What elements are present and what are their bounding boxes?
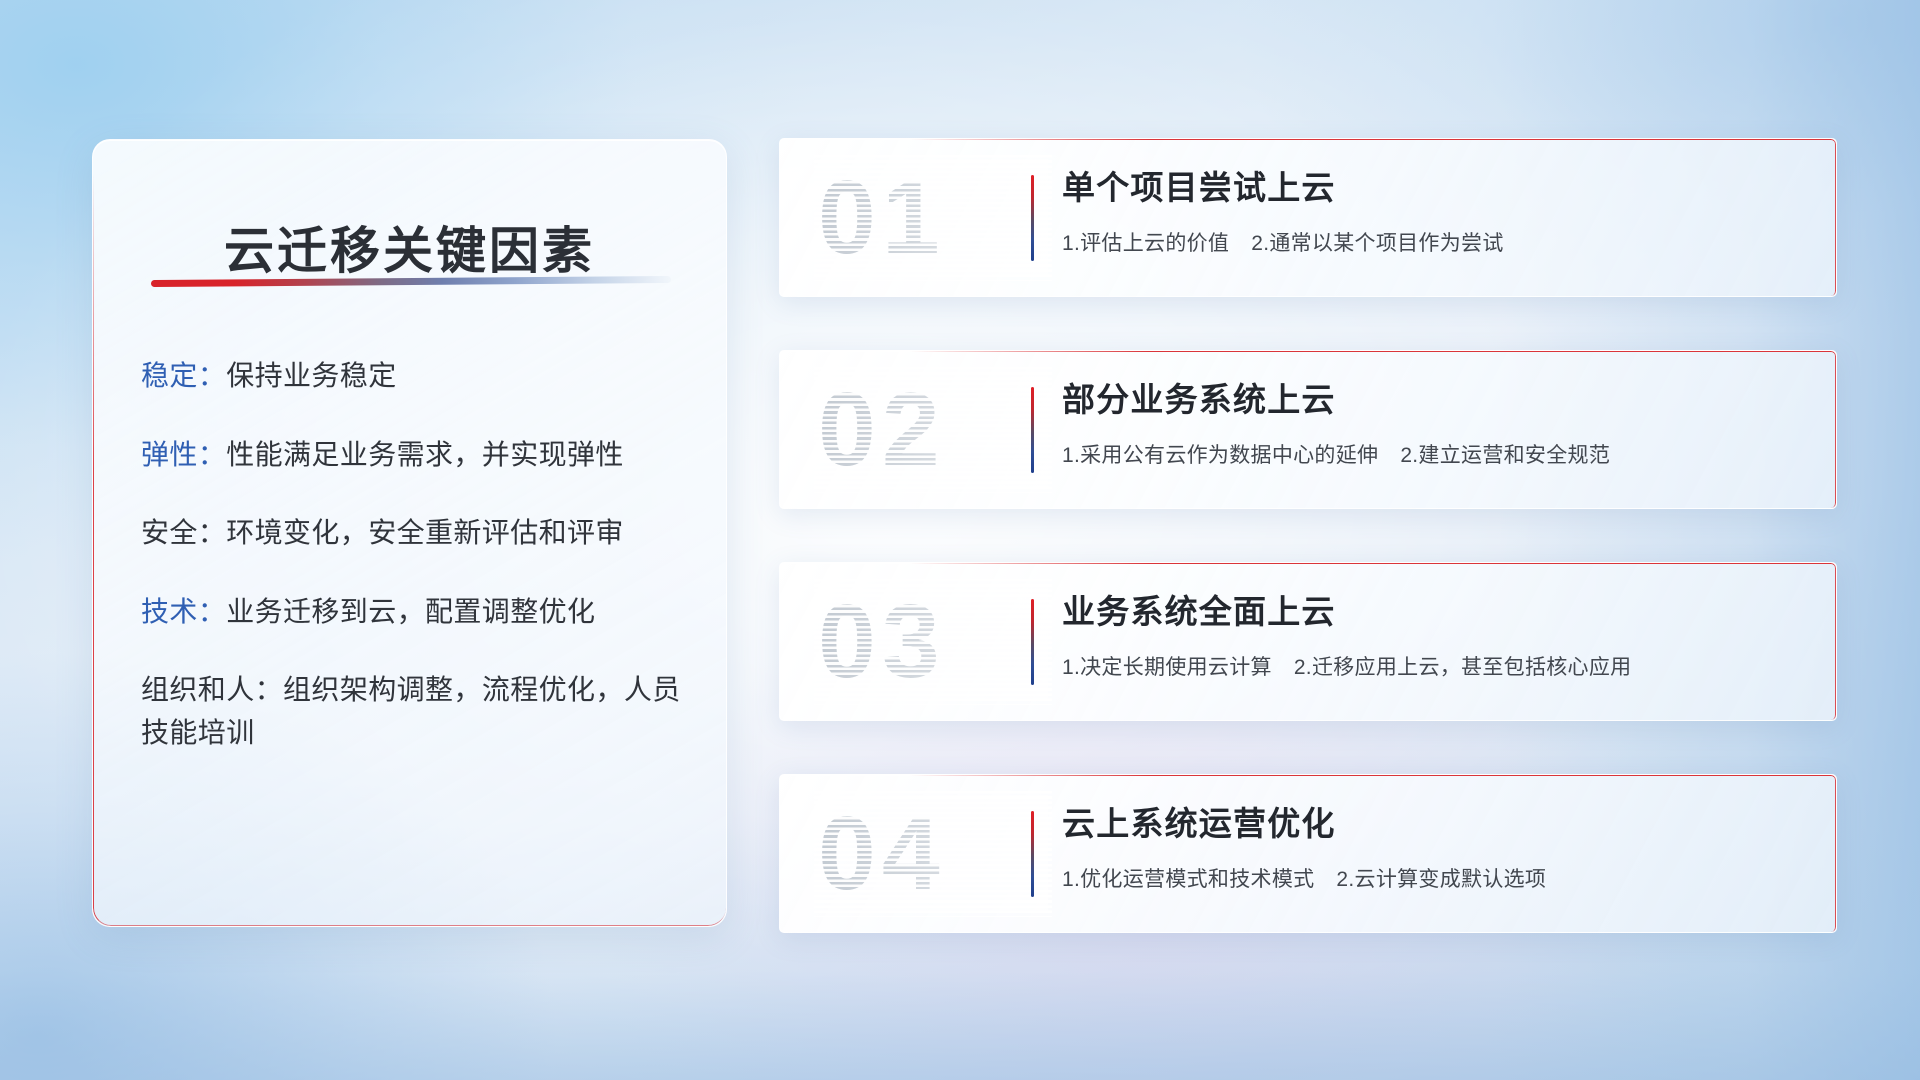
- key-factors-list: 稳定：保持业务稳定弹性：性能满足业务需求，并实现弹性安全：环境变化，安全重新评估…: [141, 355, 692, 790]
- key-factor-value: 性能满足业务需求，并实现弹性: [226, 439, 624, 470]
- card-vertical-accent-bar: [1031, 599, 1034, 685]
- key-factor-label: 组织和人：: [141, 674, 283, 705]
- key-factor-value: 环境变化，安全重新评估和评审: [226, 517, 624, 548]
- key-factor-row: 技术：业务迁移到云，配置调整优化: [141, 591, 692, 634]
- card-index-fade-overlay: [818, 583, 1048, 701]
- card-index-value: 04: [818, 795, 946, 913]
- card-index-value: 02: [818, 371, 946, 489]
- card-point: 2.云计算变成默认选项: [1336, 868, 1546, 891]
- slide-canvas: 云迁移关键因素 稳定：保持业务稳定弹性：性能满足业务需求，并实现弹性安全：环境变…: [0, 0, 1920, 1080]
- key-factors-panel: 云迁移关键因素 稳定：保持业务稳定弹性：性能满足业务需求，并实现弹性安全：环境变…: [92, 139, 727, 927]
- card-index-number: 01: [818, 159, 1048, 277]
- card-body: 部分业务系统上云1.采用公有云作为数据中心的延伸2.建立运营和安全规范: [1062, 380, 1808, 490]
- stage-card[interactable]: 04云上系统运营优化1.优化运营模式和技术模式2.云计算变成默认选项: [779, 774, 1837, 933]
- card-description: 1.采用公有云作为数据中心的延伸2.建立运营和安全规范: [1062, 442, 1808, 469]
- card-index-scanline-overlay: [814, 791, 1052, 917]
- card-index-scanline-overlay: [814, 367, 1052, 493]
- key-factor-label: 安全：: [141, 517, 226, 548]
- card-index-number: 02: [818, 371, 1048, 489]
- card-body: 云上系统运营优化1.优化运营模式和技术模式2.云计算变成默认选项: [1062, 804, 1808, 914]
- key-factor-label: 稳定：: [141, 360, 226, 391]
- card-body: 业务系统全面上云1.决定长期使用云计算2.迁移应用上云，甚至包括核心应用: [1062, 592, 1808, 702]
- key-factor-row: 安全：环境变化，安全重新评估和评审: [141, 512, 692, 555]
- card-title: 部分业务系统上云: [1062, 380, 1808, 421]
- stage-card[interactable]: 02部分业务系统上云1.采用公有云作为数据中心的延伸2.建立运营和安全规范: [779, 350, 1837, 509]
- key-factor-row: 稳定：保持业务稳定: [141, 355, 692, 398]
- card-description: 1.决定长期使用云计算2.迁移应用上云，甚至包括核心应用: [1062, 654, 1808, 681]
- card-point: 2.通常以某个项目作为尝试: [1251, 232, 1503, 255]
- key-factor-row: 弹性：性能满足业务需求，并实现弹性: [141, 434, 692, 477]
- panel-title: 云迁移关键因素: [93, 222, 726, 280]
- card-point: 1.优化运营模式和技术模式: [1062, 868, 1314, 891]
- stage-card[interactable]: 01单个项目尝试上云1.评估上云的价值2.通常以某个项目作为尝试: [779, 138, 1837, 297]
- card-title: 业务系统全面上云: [1062, 592, 1808, 633]
- card-description: 1.优化运营模式和技术模式2.云计算变成默认选项: [1062, 866, 1808, 893]
- card-title: 云上系统运营优化: [1062, 804, 1808, 845]
- card-vertical-accent-bar: [1031, 387, 1034, 473]
- card-point: 1.决定长期使用云计算: [1062, 656, 1272, 679]
- card-index-fade-overlay: [818, 159, 1048, 277]
- card-index-scanline-overlay: [814, 155, 1052, 281]
- key-factor-row: 组织和人：组织架构调整，流程优化，人员技能培训: [141, 669, 692, 754]
- card-index-value: 03: [818, 583, 946, 701]
- card-index-fade-overlay: [818, 371, 1048, 489]
- content-stage: 云迁移关键因素 稳定：保持业务稳定弹性：性能满足业务需求，并实现弹性安全：环境变…: [0, 0, 1920, 1080]
- card-vertical-accent-bar: [1031, 175, 1034, 261]
- card-description: 1.评估上云的价值2.通常以某个项目作为尝试: [1062, 230, 1808, 257]
- card-index-scanline-overlay: [814, 579, 1052, 705]
- key-factor-value: 保持业务稳定: [226, 360, 396, 391]
- card-index-number: 03: [818, 583, 1048, 701]
- card-point: 2.建立运营和安全规范: [1400, 444, 1610, 467]
- card-point: 1.采用公有云作为数据中心的延伸: [1062, 444, 1378, 467]
- card-body: 单个项目尝试上云1.评估上云的价值2.通常以某个项目作为尝试: [1062, 168, 1808, 278]
- stage-cards-list: 01单个项目尝试上云1.评估上云的价值2.通常以某个项目作为尝试02部分业务系统…: [779, 138, 1837, 933]
- key-factor-label: 技术：: [141, 596, 226, 627]
- card-point: 1.评估上云的价值: [1062, 232, 1229, 255]
- card-point: 2.迁移应用上云，甚至包括核心应用: [1294, 656, 1632, 679]
- card-title: 单个项目尝试上云: [1062, 168, 1808, 209]
- card-index-number: 04: [818, 795, 1048, 913]
- card-index-value: 01: [818, 159, 946, 277]
- key-factor-label: 弹性：: [141, 439, 226, 470]
- card-index-fade-overlay: [818, 795, 1048, 913]
- key-factor-value: 业务迁移到云，配置调整优化: [226, 596, 595, 627]
- stage-card[interactable]: 03业务系统全面上云1.决定长期使用云计算2.迁移应用上云，甚至包括核心应用: [779, 562, 1837, 721]
- card-vertical-accent-bar: [1031, 811, 1034, 897]
